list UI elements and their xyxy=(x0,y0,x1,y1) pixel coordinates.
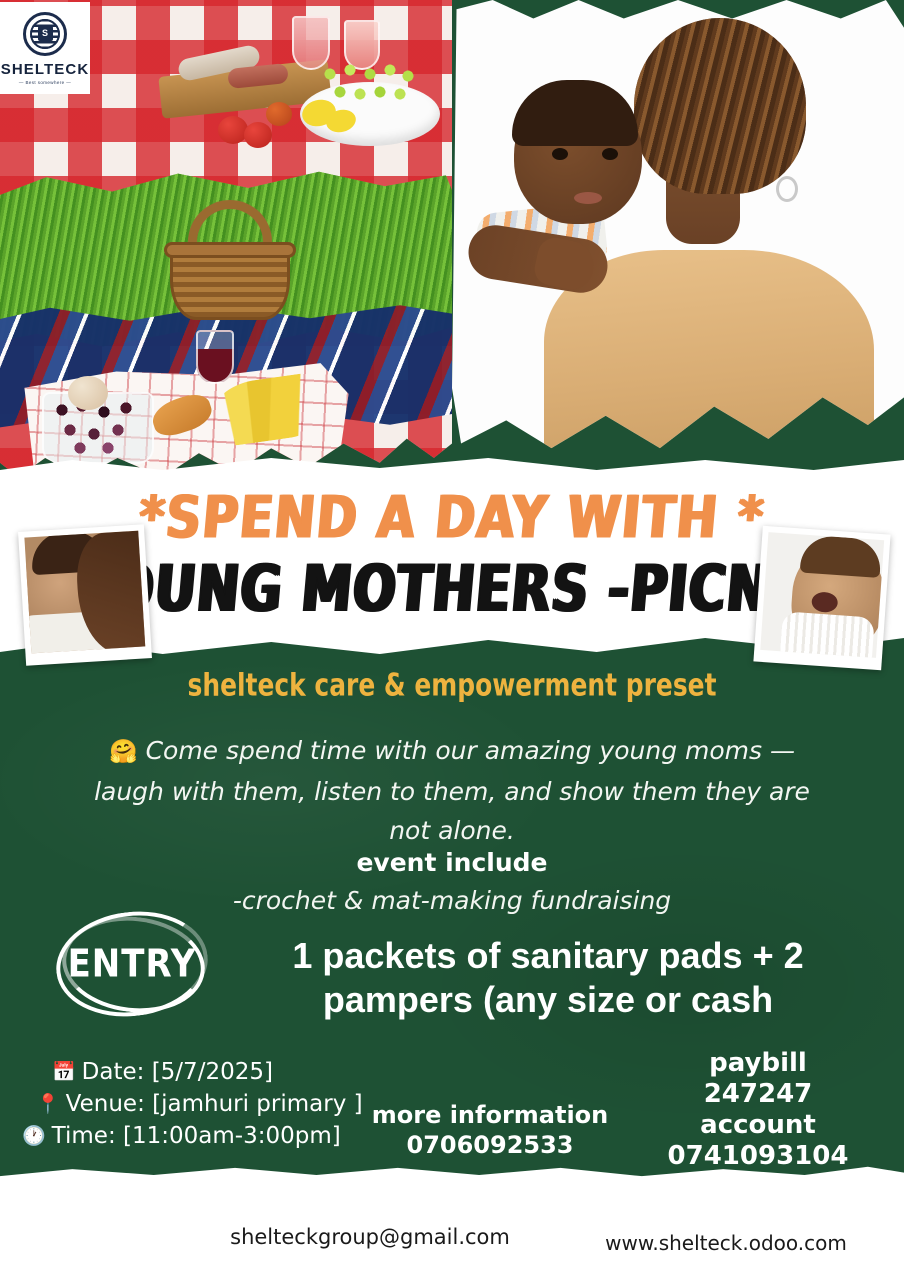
event-details: 📅 Date: [5/7/2025] 📍 Venue: [jamhuri pri… xyxy=(22,1056,362,1152)
payment-info: paybill 247247 account 0741093104 xyxy=(624,1048,892,1172)
logo-tagline: — Best somewhere — xyxy=(19,80,71,85)
picnic-basket xyxy=(162,200,298,320)
logo-wordmark: SHELTECK xyxy=(1,61,90,78)
baby-hair xyxy=(512,80,638,146)
apple xyxy=(68,376,108,410)
entry-requirement: 1 packets of sanitary pads + 2 pampers (… xyxy=(236,934,860,1022)
baby-close-up-photo xyxy=(24,531,145,654)
paybill-label: paybill xyxy=(624,1048,892,1079)
more-information-label: more information xyxy=(350,1100,630,1130)
event-include-heading: event include xyxy=(0,848,904,877)
entry-badge-label: ENTRY xyxy=(68,942,197,987)
event-poster: S SHELTECK — Best somewhere — *SPEND A D… xyxy=(0,0,904,1280)
basket-rim xyxy=(164,242,296,258)
laughing-baby-photo xyxy=(760,532,884,658)
mother-carrying-baby-photo xyxy=(452,0,904,462)
clock-icon: 🕐 xyxy=(22,1127,46,1146)
footer-email[interactable]: shelteckgroup@gmail.com xyxy=(180,1225,560,1249)
location-pin-icon: 📍 xyxy=(36,1095,60,1114)
detail-date-label: Date: [5/7/2025] xyxy=(82,1056,273,1088)
baby-mouth xyxy=(574,192,602,204)
footer-website[interactable]: www.shelteck.odoo.com xyxy=(566,1231,886,1255)
polaroid-right xyxy=(753,526,890,671)
detail-venue-label: Venue: [jamhuri primary ] xyxy=(66,1088,363,1120)
mother-braided-hair xyxy=(634,18,806,194)
baby-eye-left xyxy=(552,148,568,160)
hugging-face-icon: 🤗 xyxy=(109,739,138,765)
detail-time: 🕐 Time: [11:00am-3:00pm] xyxy=(22,1120,362,1152)
tomato-3 xyxy=(266,102,292,126)
tomato-1 xyxy=(218,116,248,144)
more-information-phone[interactable]: 0706092533 xyxy=(350,1130,630,1160)
footer-band xyxy=(0,1162,904,1280)
paybill-number: 247247 xyxy=(624,1079,892,1110)
intro-blurb: 🤗 Come spend time with our amazing young… xyxy=(88,731,816,850)
detail-time-label: Time: [11:00am-3:00pm] xyxy=(52,1120,341,1152)
hero-photo-band: S SHELTECK — Best somewhere — xyxy=(0,0,904,490)
detail-date: 📅 Date: [5/7/2025] xyxy=(22,1056,362,1088)
baby-eye-right xyxy=(602,148,618,160)
entry-badge: ENTRY xyxy=(56,912,208,1016)
brand-logo[interactable]: S SHELTECK — Best somewhere — xyxy=(0,2,90,94)
detail-venue: 📍 Venue: [jamhuri primary ] xyxy=(22,1088,362,1120)
hoop-earring xyxy=(776,176,798,202)
polaroid-right-baby-hair xyxy=(800,534,882,577)
logo-monogram: S xyxy=(38,26,53,41)
polaroid-left xyxy=(18,524,152,665)
globe-icon: S xyxy=(23,12,67,56)
calendar-icon: 📅 xyxy=(52,1063,76,1082)
polaroid-right-baby-vest xyxy=(780,611,875,658)
subtitle-banner: shelteck care & empowerment preset xyxy=(63,667,840,703)
intro-blurb-text: Come spend time with our amazing young m… xyxy=(94,736,810,845)
red-wine-glass xyxy=(196,330,234,384)
tomato-2 xyxy=(244,122,272,148)
account-number: 0741093104 xyxy=(624,1141,892,1172)
more-information: more information 0706092533 xyxy=(350,1100,630,1160)
basket-body xyxy=(170,248,290,320)
account-label: account xyxy=(624,1110,892,1141)
